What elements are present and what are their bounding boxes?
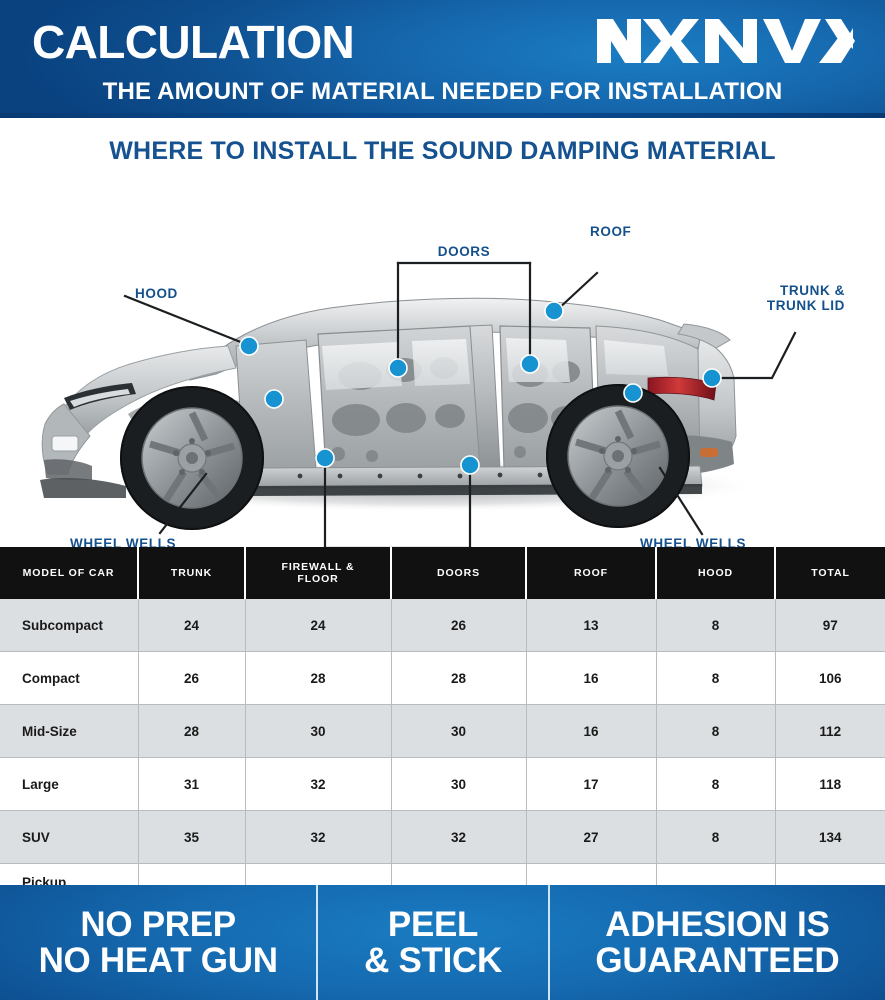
car-rear-reflector [700,448,718,457]
marker-roof [545,302,563,320]
cell-doors: 30 [391,705,526,758]
marker-front-fender [265,390,283,408]
table-row: Mid-Size 28 30 30 16 8 112 [0,705,885,758]
cell-doors: 32 [391,811,526,864]
car-front-wheel [120,386,264,530]
marker-rear-quarter [624,384,642,402]
marker-hood [240,337,258,355]
cell-total: 106 [775,652,885,705]
cell-hood: 8 [656,758,775,811]
cell-firewall-floor: 32 [245,811,391,864]
car-lower-front-lip [44,459,92,480]
car-rear-wheel [546,384,690,528]
cell-model: Mid-Size [0,705,138,758]
car-front-window-2 [412,339,470,386]
col-header-doors: DOORS [391,547,526,599]
table-header-row: MODEL OF CAR TRUNK FIREWALL & FLOOR DOOR… [0,547,885,599]
calculation-table: MODEL OF CAR TRUNK FIREWALL & FLOOR DOOR… [0,547,885,916]
nvx-logo [595,12,855,70]
cell-model: SUV [0,811,138,864]
footer-banner: NO PREP NO HEAT GUN PEEL & STICK ADHESIO… [0,885,885,1000]
col-header-firewall-line2: FLOOR [250,573,386,585]
footer-cell-adhesion: ADHESION IS GUARANTEED [550,885,885,1000]
marker-front-door [389,359,407,377]
cell-model: Subcompact [0,599,138,652]
cell-total: 97 [775,599,885,652]
col-header-firewall-floor: FIREWALL & FLOOR [245,547,391,599]
table-row: Subcompact 24 24 26 13 8 97 [0,599,885,652]
cell-trunk: 26 [138,652,245,705]
cell-hood: 8 [656,599,775,652]
cell-total: 112 [775,705,885,758]
cell-model: Compact [0,652,138,705]
label-trunk-line2: TRUNK LID [665,298,845,313]
footer-no-prep-line2: NO HEAT GUN [39,943,278,979]
section-title: WHERE TO INSTALL THE SOUND DAMPING MATER… [0,136,885,166]
table-row: SUV 35 32 32 27 8 134 [0,811,885,864]
cell-total: 134 [775,811,885,864]
marker-trunk [703,369,721,387]
footer-cell-peel-stick: PEEL & STICK [316,885,549,1000]
footer-peel-line1: PEEL [364,907,502,943]
cell-doors: 30 [391,758,526,811]
marker-firewall [316,449,334,467]
cell-firewall-floor: 24 [245,599,391,652]
col-header-model: MODEL OF CAR [0,547,138,599]
cell-trunk: 31 [138,758,245,811]
infographic-page: CALCULATION TH [0,0,885,1000]
leader-hood [125,296,248,345]
car-diagram: HOOD DOORS ROOF TRUNK & TRUNK LID WHEEL … [0,168,885,547]
cell-total: 118 [775,758,885,811]
cell-hood: 8 [656,652,775,705]
col-header-total: TOTAL [775,547,885,599]
label-hood: HOOD [135,286,178,301]
footer-peel-line2: & STICK [364,943,502,979]
cell-model: Large [0,758,138,811]
car-illustration [0,168,885,547]
cell-trunk: 35 [138,811,245,864]
calculation-table-wrap: MODEL OF CAR TRUNK FIREWALL & FLOOR DOOR… [0,547,885,885]
header-subtitle: THE AMOUNT OF MATERIAL NEEDED FOR INSTAL… [0,78,885,106]
cell-roof: 27 [526,811,656,864]
label-trunk-line1: TRUNK & [665,283,845,298]
cell-hood: 8 [656,705,775,758]
cell-hood: 8 [656,811,775,864]
footer-no-prep-line1: NO PREP [39,907,278,943]
cell-roof: 17 [526,758,656,811]
cell-roof: 13 [526,599,656,652]
col-header-firewall-line1: FIREWALL & [250,561,386,573]
header-banner: CALCULATION TH [0,0,885,118]
col-header-hood: HOOD [656,547,775,599]
marker-floor [461,456,479,474]
page-title: CALCULATION [32,14,354,70]
car-foglight [52,436,78,451]
cell-doors: 26 [391,599,526,652]
cell-trunk: 24 [138,599,245,652]
diagram-section: WHERE TO INSTALL THE SOUND DAMPING MATER… [0,118,885,547]
nvx-logo-mark [595,15,855,67]
cell-doors: 28 [391,652,526,705]
footer-adhesion-line2: GUARANTEED [595,943,839,979]
col-header-trunk: TRUNK [138,547,245,599]
cell-firewall-floor: 28 [245,652,391,705]
label-doors: DOORS [438,244,491,259]
table-row: Compact 26 28 28 16 8 106 [0,652,885,705]
cell-roof: 16 [526,652,656,705]
col-header-roof: ROOF [526,547,656,599]
cell-trunk: 28 [138,705,245,758]
marker-rear-door [521,355,539,373]
footer-cell-no-prep: NO PREP NO HEAT GUN [0,885,316,1000]
cell-roof: 16 [526,705,656,758]
header-title-row: CALCULATION [0,14,885,70]
footer-adhesion-line1: ADHESION IS [595,907,839,943]
cell-firewall-floor: 32 [245,758,391,811]
label-roof: ROOF [590,224,631,239]
table-row: Large 31 32 30 17 8 118 [0,758,885,811]
cell-firewall-floor: 30 [245,705,391,758]
label-trunk: TRUNK & TRUNK LID [665,283,845,313]
